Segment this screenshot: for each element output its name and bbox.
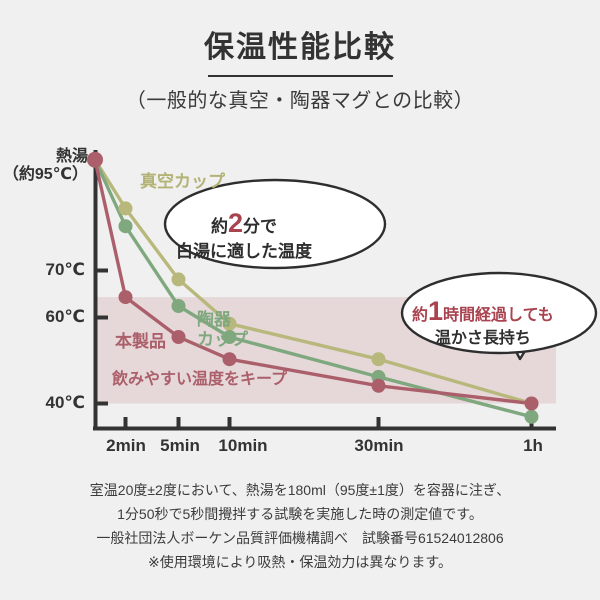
y-axis-label-40: 40℃ (0, 393, 85, 413)
data-point (119, 219, 133, 233)
callout-2min-line2: 白湯に適した温度 (176, 241, 312, 262)
footnote-line-2: 1分50秒で5秒間攪拌する試験を実施した時の測定値です。 (0, 502, 600, 526)
data-point (172, 330, 186, 344)
series-label-this-product: 本製品 (115, 332, 166, 352)
data-point (172, 299, 186, 313)
callout-1hour-number: 1 (428, 296, 443, 326)
y-axis-label-70: 70℃ (0, 260, 85, 280)
x-axis-label-1h: 1h (523, 436, 543, 456)
x-axis-label-5min: 5min (160, 436, 200, 456)
data-point (223, 352, 237, 366)
series-label-vacuum-cup: 真空カップ (140, 172, 225, 192)
x-axis-label-10min: 10min (218, 436, 267, 456)
y-axis-label-hotwater-line2: （約95℃） (0, 166, 88, 184)
footnote-line-1: 室温20度±2度において、熱湯を180ml（95度±1度）を容器に注ぎ、 (0, 478, 600, 502)
callout-2min-pre: 約 (211, 217, 228, 236)
data-point (119, 290, 133, 304)
callout-2min-line1: 約2分で (176, 207, 312, 241)
callout-2min-number: 2 (228, 208, 243, 238)
band-label-keep-temperature: 飲みやすい温度をキープ (112, 371, 287, 389)
data-point (172, 272, 186, 286)
x-axis-label-30min: 30min (354, 436, 403, 456)
callout-2min-post: 分で (243, 217, 277, 236)
data-point (372, 379, 386, 393)
y-axis-label-hotwater-line1: 熱湯 (0, 148, 88, 166)
callout-1hour-line1: 約1時間経過しても (412, 295, 554, 329)
data-point (525, 410, 539, 424)
series-label-ceramic-line2: カップ (197, 330, 248, 350)
y-axis-label-60: 60℃ (0, 307, 85, 327)
callout-1hour-text: 約1時間経過しても 温かさ長持ち (412, 295, 554, 349)
y-axis-label-hotwater: 熱湯 （約95℃） (0, 148, 88, 185)
callout-2min-text: 約2分で 白湯に適した温度 (176, 207, 312, 262)
footnote-line-3: 一般社団法人ボーケン品質評価機構調べ 試験番号61524012806 (0, 526, 600, 550)
x-axis-label-2min: 2min (106, 436, 146, 456)
data-point (372, 352, 386, 366)
series-label-ceramic-cup: 陶器 カップ (197, 310, 248, 349)
callout-1hour-pre: 約 (412, 307, 428, 324)
chart-root: 保温性能比較 （一般的な真空・陶器マグとの比較） (0, 0, 600, 600)
footnote: 室温20度±2度において、熱湯を180ml（95度±1度）を容器に注ぎ、 1分5… (0, 478, 600, 574)
callout-1hour-line2: 温かさ長持ち (412, 329, 554, 349)
callout-1hour-post-accent: 時間経過しても (443, 307, 554, 324)
series-label-ceramic-line1: 陶器 (197, 310, 248, 330)
data-point (119, 201, 133, 215)
data-point (87, 152, 103, 168)
footnote-line-4: ※使用環境により吸熱・保温効力は異なります。 (0, 550, 600, 574)
data-point (525, 397, 539, 411)
